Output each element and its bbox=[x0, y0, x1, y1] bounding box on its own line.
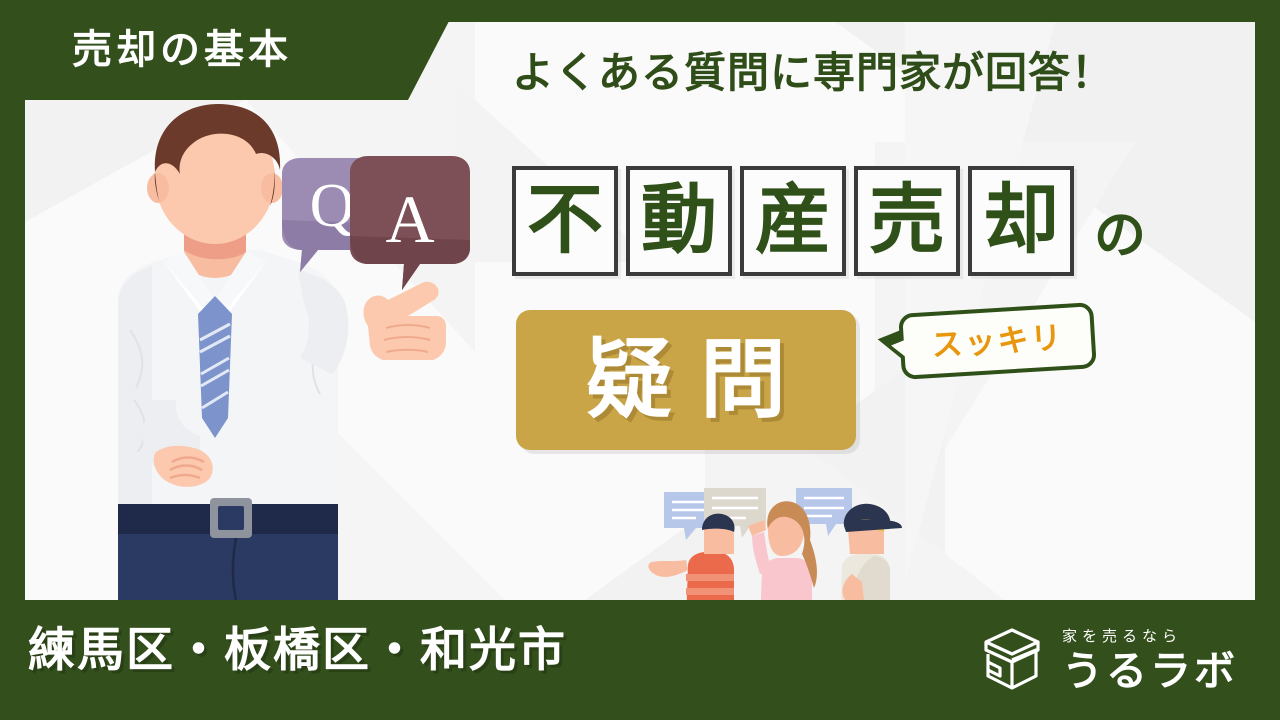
footer-bar: 練馬区・板橋区・和光市 家を売るなら うるラボ bbox=[0, 600, 1280, 720]
boxed-char: 却 bbox=[968, 166, 1074, 276]
gold-highlight-box: 疑 問 bbox=[516, 310, 856, 450]
category-badge: 売却の基本 bbox=[0, 0, 460, 100]
boxed-char: 不 bbox=[512, 166, 618, 276]
qa-speech-bubbles-illustration: Q A bbox=[270, 150, 500, 360]
gold-char: 問 bbox=[700, 337, 786, 423]
boxed-title: 不 動 産 売 却 の bbox=[512, 166, 1146, 276]
gold-title-group: 疑 問 を 解決 bbox=[516, 310, 856, 450]
callout-bubble: スッキリ bbox=[898, 302, 1097, 380]
q-letter: Q bbox=[310, 172, 355, 240]
gold-char: 疑 bbox=[586, 337, 672, 423]
brand-name: うるラボ bbox=[1062, 651, 1238, 692]
callout-bubble-text: スッキリ bbox=[931, 321, 1065, 360]
boxed-title-suffix: の bbox=[1094, 210, 1146, 262]
isometric-box-logo-icon bbox=[980, 624, 1044, 696]
boxed-char: 動 bbox=[626, 166, 732, 276]
brand-tagline: 家を売るなら bbox=[1062, 629, 1238, 644]
a-letter: A bbox=[385, 181, 434, 257]
category-badge-label: 売却の基本 bbox=[72, 30, 292, 70]
boxed-char: 産 bbox=[740, 166, 846, 276]
boxed-char: 売 bbox=[854, 166, 960, 276]
callout-bubble-tail-inner-icon bbox=[891, 338, 910, 361]
pointing-hand-icon bbox=[364, 282, 447, 360]
answer-bubble: A bbox=[350, 156, 470, 290]
service-areas-label: 練馬区・板橋区・和光市 bbox=[28, 626, 567, 673]
headline-text: よくある質問に専門家が回答！ bbox=[512, 52, 1114, 94]
brand-logo[interactable]: 家を売るなら うるラボ bbox=[980, 624, 1238, 696]
poster-stage: Q A 売却の基本 よくある質問に専門家が回答！ 不 bbox=[0, 0, 1280, 720]
